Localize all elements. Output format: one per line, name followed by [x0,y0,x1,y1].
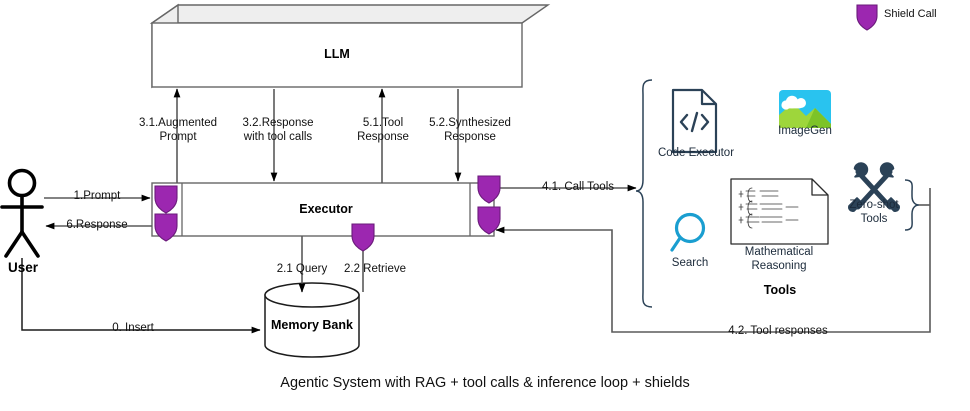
diagram-vector-layer [0,0,970,411]
memory-bank-label: Memory Bank [265,318,359,332]
diagram-canvas: LLM Executor Memory Bank User 1.Prompt 6… [0,0,970,411]
image-icon[interactable] [779,90,831,128]
edge-label-response: 6.Response [52,219,142,233]
edge-label-prompt: 1.Prompt [57,190,137,204]
tools-group-label: Tools [735,283,825,297]
formula-document-icon[interactable] [731,179,828,244]
user-label: User [0,260,46,275]
tools-left-brace [636,80,652,307]
edge-insert [22,258,260,330]
tool-label-code-executor: Code Executor [644,146,748,160]
shield-executor-in-bottom[interactable] [155,214,177,241]
legend-label: Shield Call [884,8,937,20]
shield-legend-icon [857,5,877,30]
edge-label-synthesized-response: 5.2.Synthesized Response [424,117,516,144]
edge-label-query: 2.1 Query [266,263,338,277]
tool-label-imagegen: ImageGen [765,124,845,138]
tool-label-zero-shot-tools: Zero-shot Tools [838,198,910,226]
edge-label-tool-response: 5.1.Tool Response [348,117,418,144]
tool-label-search: Search [658,256,722,270]
edge-label-augmented-prompt: 3.1.Augmented Prompt [138,117,218,144]
magnifier-icon[interactable] [672,215,704,251]
user-actor[interactable] [2,171,42,257]
code-document-icon[interactable] [673,90,716,152]
edge-label-insert: 0. Insert [88,322,178,336]
edge-label-tool-responses: 4.2. Tool responses [716,325,840,339]
executor-label: Executor [182,202,470,216]
edge-label-response-tool-calls: 3.2.Response with tool calls [232,117,324,144]
shield-executor-memory[interactable] [352,224,374,251]
llm-node[interactable] [152,5,548,87]
diagram-caption: Agentic System with RAG + tool calls & i… [0,375,970,391]
edge-label-call-tools: 4.1. Call Tools [527,181,629,195]
tool-label-mathematical-reasoning: Mathematical Reasoning [729,245,829,273]
edge-label-retrieve: 2.2 Retrieve [334,263,416,277]
llm-label: LLM [152,47,522,61]
